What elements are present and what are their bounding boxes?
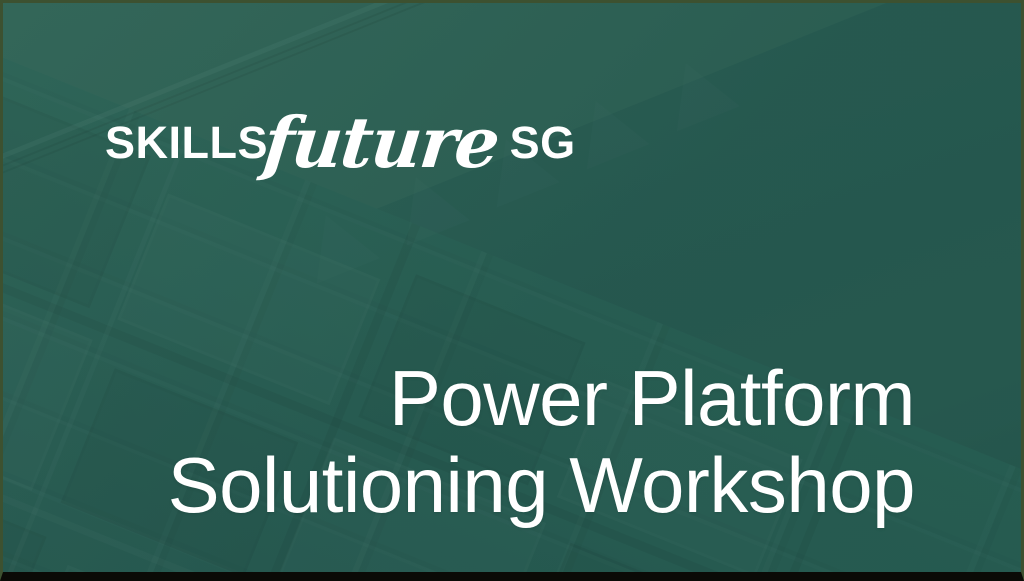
skillsfuture-sg-logo: SKILLS future SG: [105, 99, 576, 169]
title-line-2: Solutioning Workshop: [168, 442, 915, 529]
presentation-slide: SKILLS future SG Power Platform Solution…: [0, 0, 1024, 581]
logo-skills-text: SKILLS: [105, 120, 268, 165]
title-line-1: Power Platform: [168, 355, 915, 442]
logo-sg-text: SG: [510, 120, 576, 165]
slide-title: Power Platform Solutioning Workshop: [168, 355, 915, 529]
logo-future-script: future: [260, 108, 501, 178]
